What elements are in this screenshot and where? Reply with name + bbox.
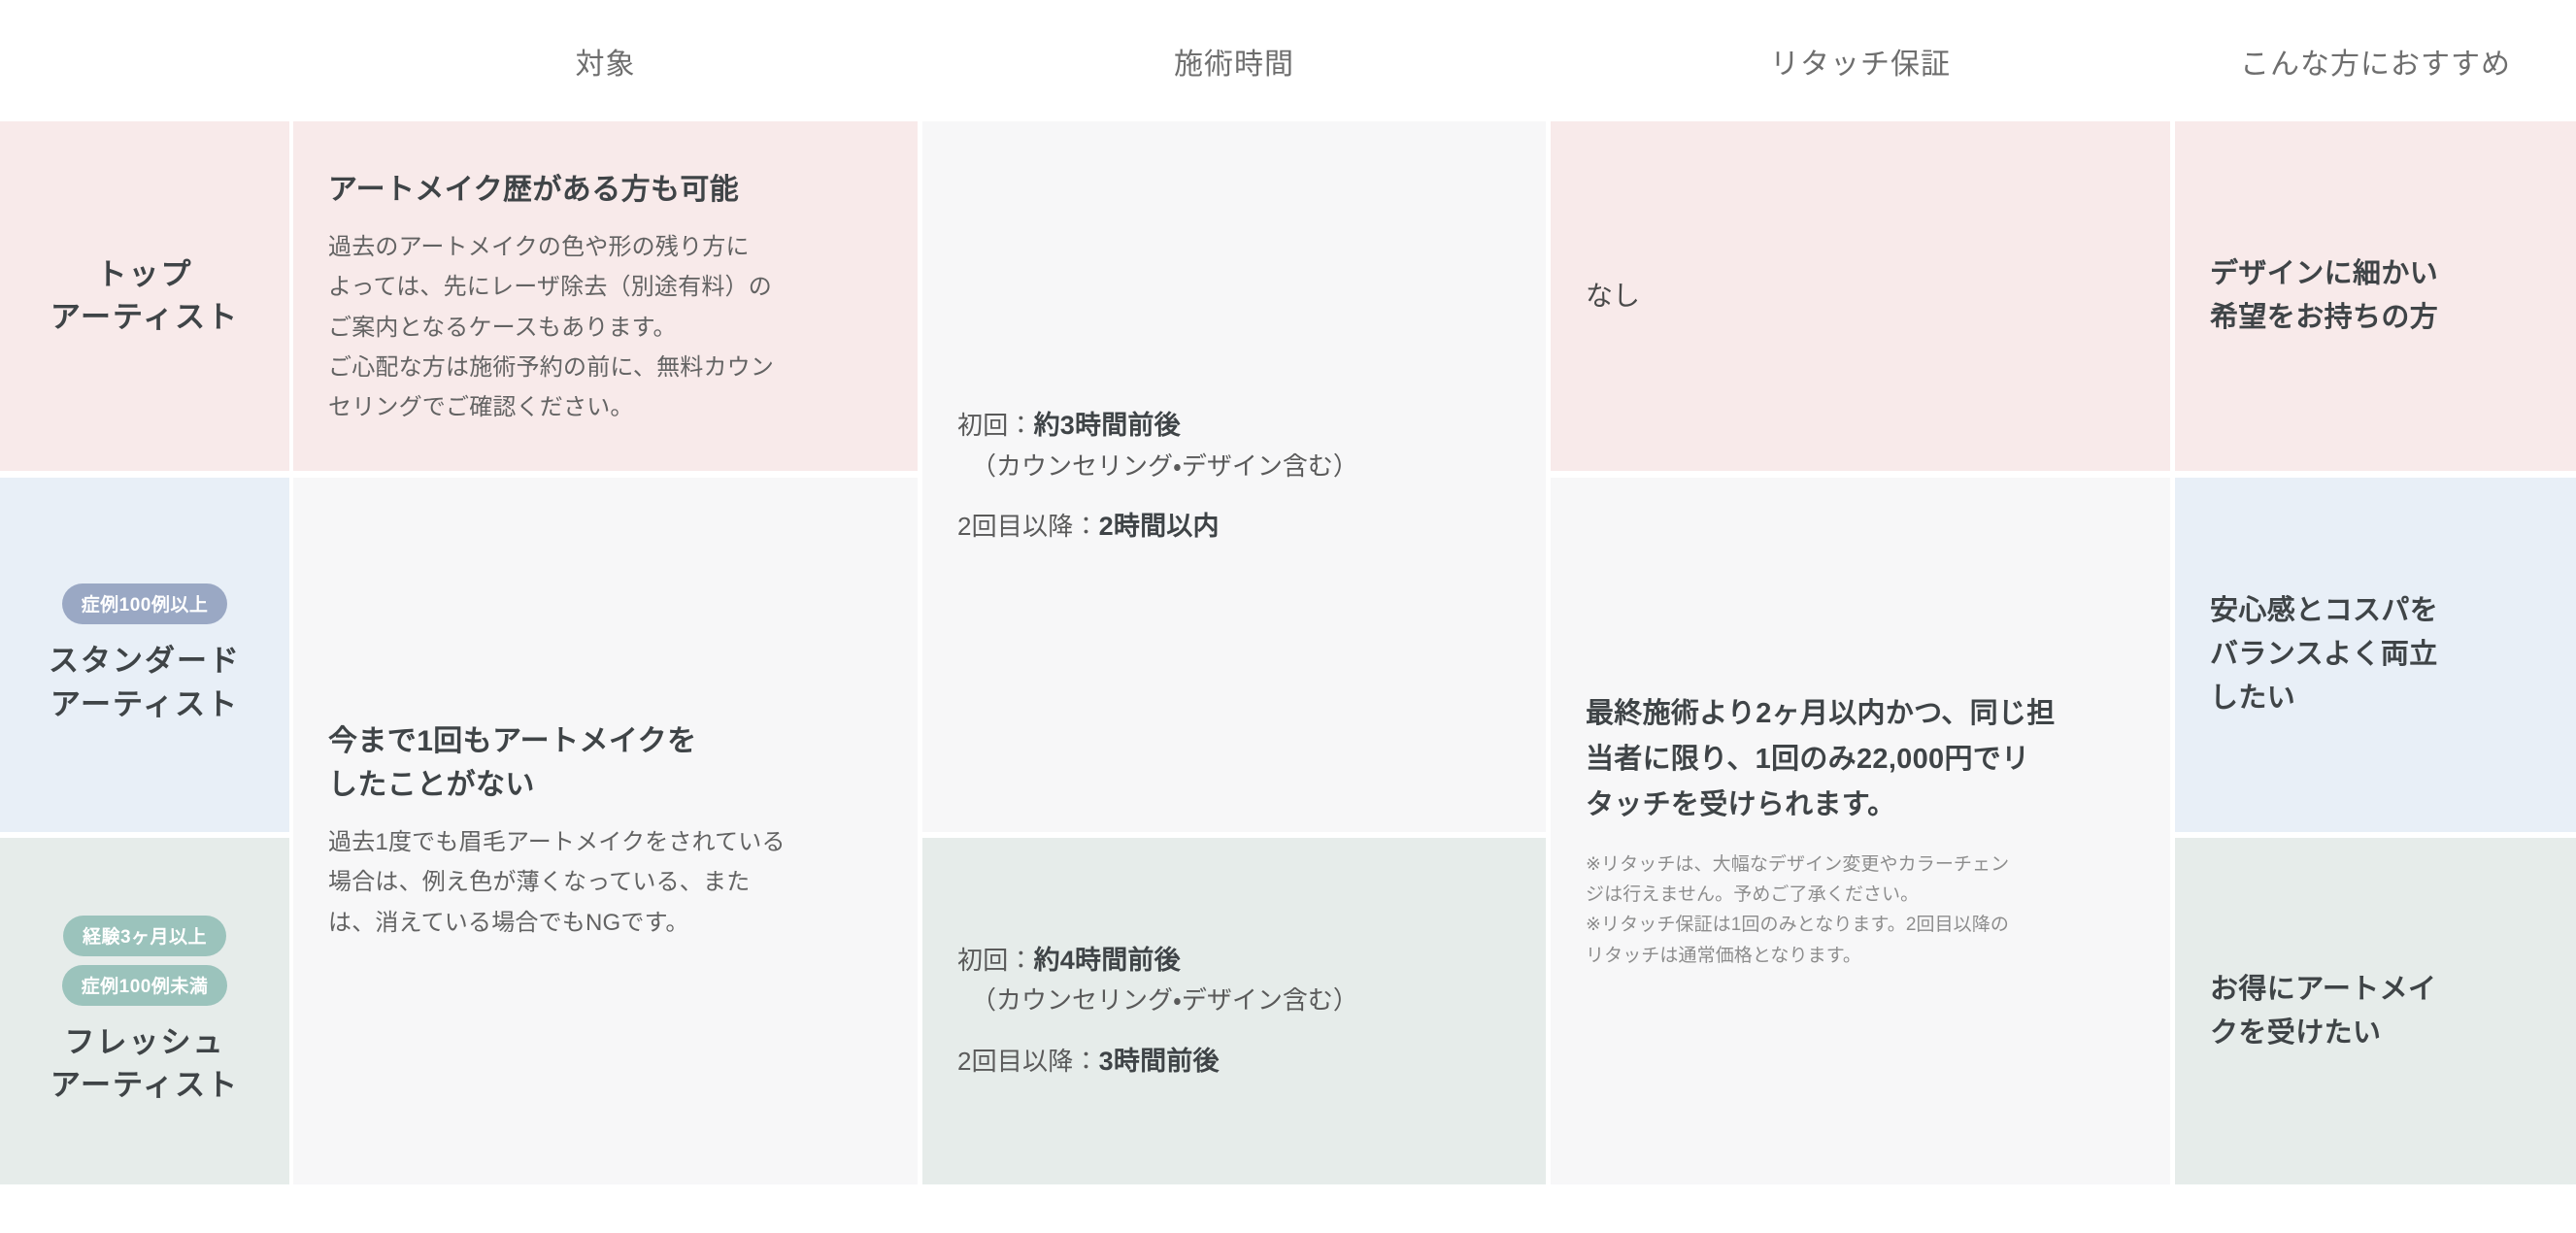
target-lead-top: アートメイク歴がある方も可能 (328, 168, 883, 212)
plan-name-standard-line1: スタンダード (49, 644, 241, 678)
retouch-lead-standard-fresh: 最終施術より2ヶ月以内かつ、同じ担 当者に限り、1回のみ22,000円でリ タッ… (1586, 691, 2135, 828)
treatment-time-cell-fresh: 初回：約4時間前後 （カウンセリング・デザイン含む） 2回目以降：3時間前後 (922, 838, 1546, 1184)
recommended-cell-standard-artist: 安心感とコスパを バランスよく両立 したい (2175, 478, 2576, 832)
retouch-value-top: なし (1586, 276, 2135, 317)
plan-cell-fresh-artist: 経験3ヶ月以上 症例100例未満 フレッシュ アーティスト (0, 838, 289, 1184)
treatment-time-first-label: 初回： (957, 411, 1034, 440)
comparison-table: 対象 施術時間 リタッチ保証 こんな方におすすめ トップ アーティスト 症例10… (0, 0, 2576, 1233)
plan-name-top-line1: トップ (97, 257, 193, 291)
recommended-text-top: デザインに細かい 希望をお持ちの方 (2210, 252, 2541, 340)
treatment-time-first-label-fresh: 初回： (957, 946, 1034, 975)
treatment-time-first-note-top-standard: （カウンセリング・デザイン含む） (957, 447, 1511, 485)
plan-cell-standard-artist: 症例100例以上 スタンダード アーティスト (0, 478, 289, 832)
plan-name-standard-line2: アーティスト (50, 687, 239, 721)
target-body-top: 過去のアートメイクの色や形の残り方に よっては、先にレーザ除去（別途有料）の ご… (328, 227, 883, 427)
treatment-time-first-top-standard: 初回：約3時間前後 (957, 406, 1511, 447)
column-header-retouch-guarantee: リタッチ保証 (1551, 0, 2170, 121)
treatment-time-repeat-label: 2回目以降： (957, 512, 1099, 541)
column-header-target: 対象 (293, 0, 918, 121)
retouch-cell-standard-fresh: 最終施術より2ヶ月以内かつ、同じ担 当者に限り、1回のみ22,000円でリ タッ… (1551, 478, 2170, 1184)
target-body-standard-fresh: 過去1度でも眉毛アートメイクをされている 場合は、例え色が薄くなっている、また … (328, 822, 883, 943)
treatment-time-cell-top-standard: 初回：約3時間前後 （カウンセリング・デザイン含む） 2回目以降：2時間以内 (922, 121, 1546, 832)
treatment-time-first-note-fresh: （カウンセリング・デザイン含む） (957, 981, 1511, 1019)
recommended-text-fresh: お得にアートメイ クを受けたい (2210, 968, 2541, 1055)
treatment-time-repeat-value-fresh: 3時間前後 (1099, 1047, 1220, 1076)
retouch-cell-top-artist: なし (1551, 121, 2170, 471)
target-cell-standard-fresh: 今まで1回もアートメイクを したことがない 過去1度でも眉毛アートメイクをされて… (293, 478, 918, 1184)
treatment-time-repeat-top-standard: 2回目以降：2時間以内 (957, 507, 1511, 548)
column-header-recommended-for: こんな方におすすめ (2175, 0, 2576, 121)
retouch-notes-standard-fresh: ※リタッチは、大幅なデザイン変更やカラーチェン ジは行えません。予めご了承くださ… (1586, 850, 2135, 971)
recommended-text-standard: 安心感とコスパを バランスよく両立 したい (2210, 589, 2541, 720)
plan-badges-standard: 症例100例以上 (62, 583, 228, 624)
treatment-time-first-value-fresh: 約4時間前後 (1034, 946, 1181, 975)
plan-name-fresh-line1: フレッシュ (65, 1025, 225, 1059)
plan-cell-top-artist: トップ アーティスト (0, 121, 289, 471)
recommended-cell-fresh-artist: お得にアートメイ クを受けたい (2175, 838, 2576, 1184)
plan-name-standard: スタンダード アーティスト (49, 640, 241, 725)
recommended-cell-top-artist: デザインに細かい 希望をお持ちの方 (2175, 121, 2576, 471)
treatment-time-first-fresh: 初回：約4時間前後 (957, 941, 1511, 982)
table-header-row: 対象 施術時間 リタッチ保証 こんな方におすすめ (0, 0, 2576, 121)
plan-badges-fresh: 経験3ヶ月以上 症例100例未満 (62, 916, 228, 1006)
target-lead-standard-fresh: 今まで1回もアートメイクを したことがない (328, 719, 883, 807)
plan-name-top: トップ アーティスト (50, 253, 239, 339)
treatment-time-repeat-label-fresh: 2回目以降： (957, 1047, 1099, 1076)
plan-name-top-line2: アーティスト (50, 300, 239, 334)
plan-name-fresh: フレッシュ アーティスト (50, 1021, 239, 1107)
treatment-time-repeat-value: 2時間以内 (1099, 512, 1220, 541)
column-header-treatment-time: 施術時間 (922, 0, 1546, 121)
badge-cases-under-100: 症例100例未満 (62, 965, 228, 1006)
treatment-time-repeat-fresh: 2回目以降：3時間前後 (957, 1042, 1511, 1083)
treatment-time-first-value: 約3時間前後 (1034, 411, 1181, 440)
target-cell-top-artist: アートメイク歴がある方も可能 過去のアートメイクの色や形の残り方に よっては、先… (293, 121, 918, 471)
plan-name-fresh-line2: アーティスト (50, 1068, 239, 1102)
badge-cases-over-100: 症例100例以上 (62, 583, 228, 624)
badge-experience-over-3-months: 経験3ヶ月以上 (63, 916, 226, 956)
